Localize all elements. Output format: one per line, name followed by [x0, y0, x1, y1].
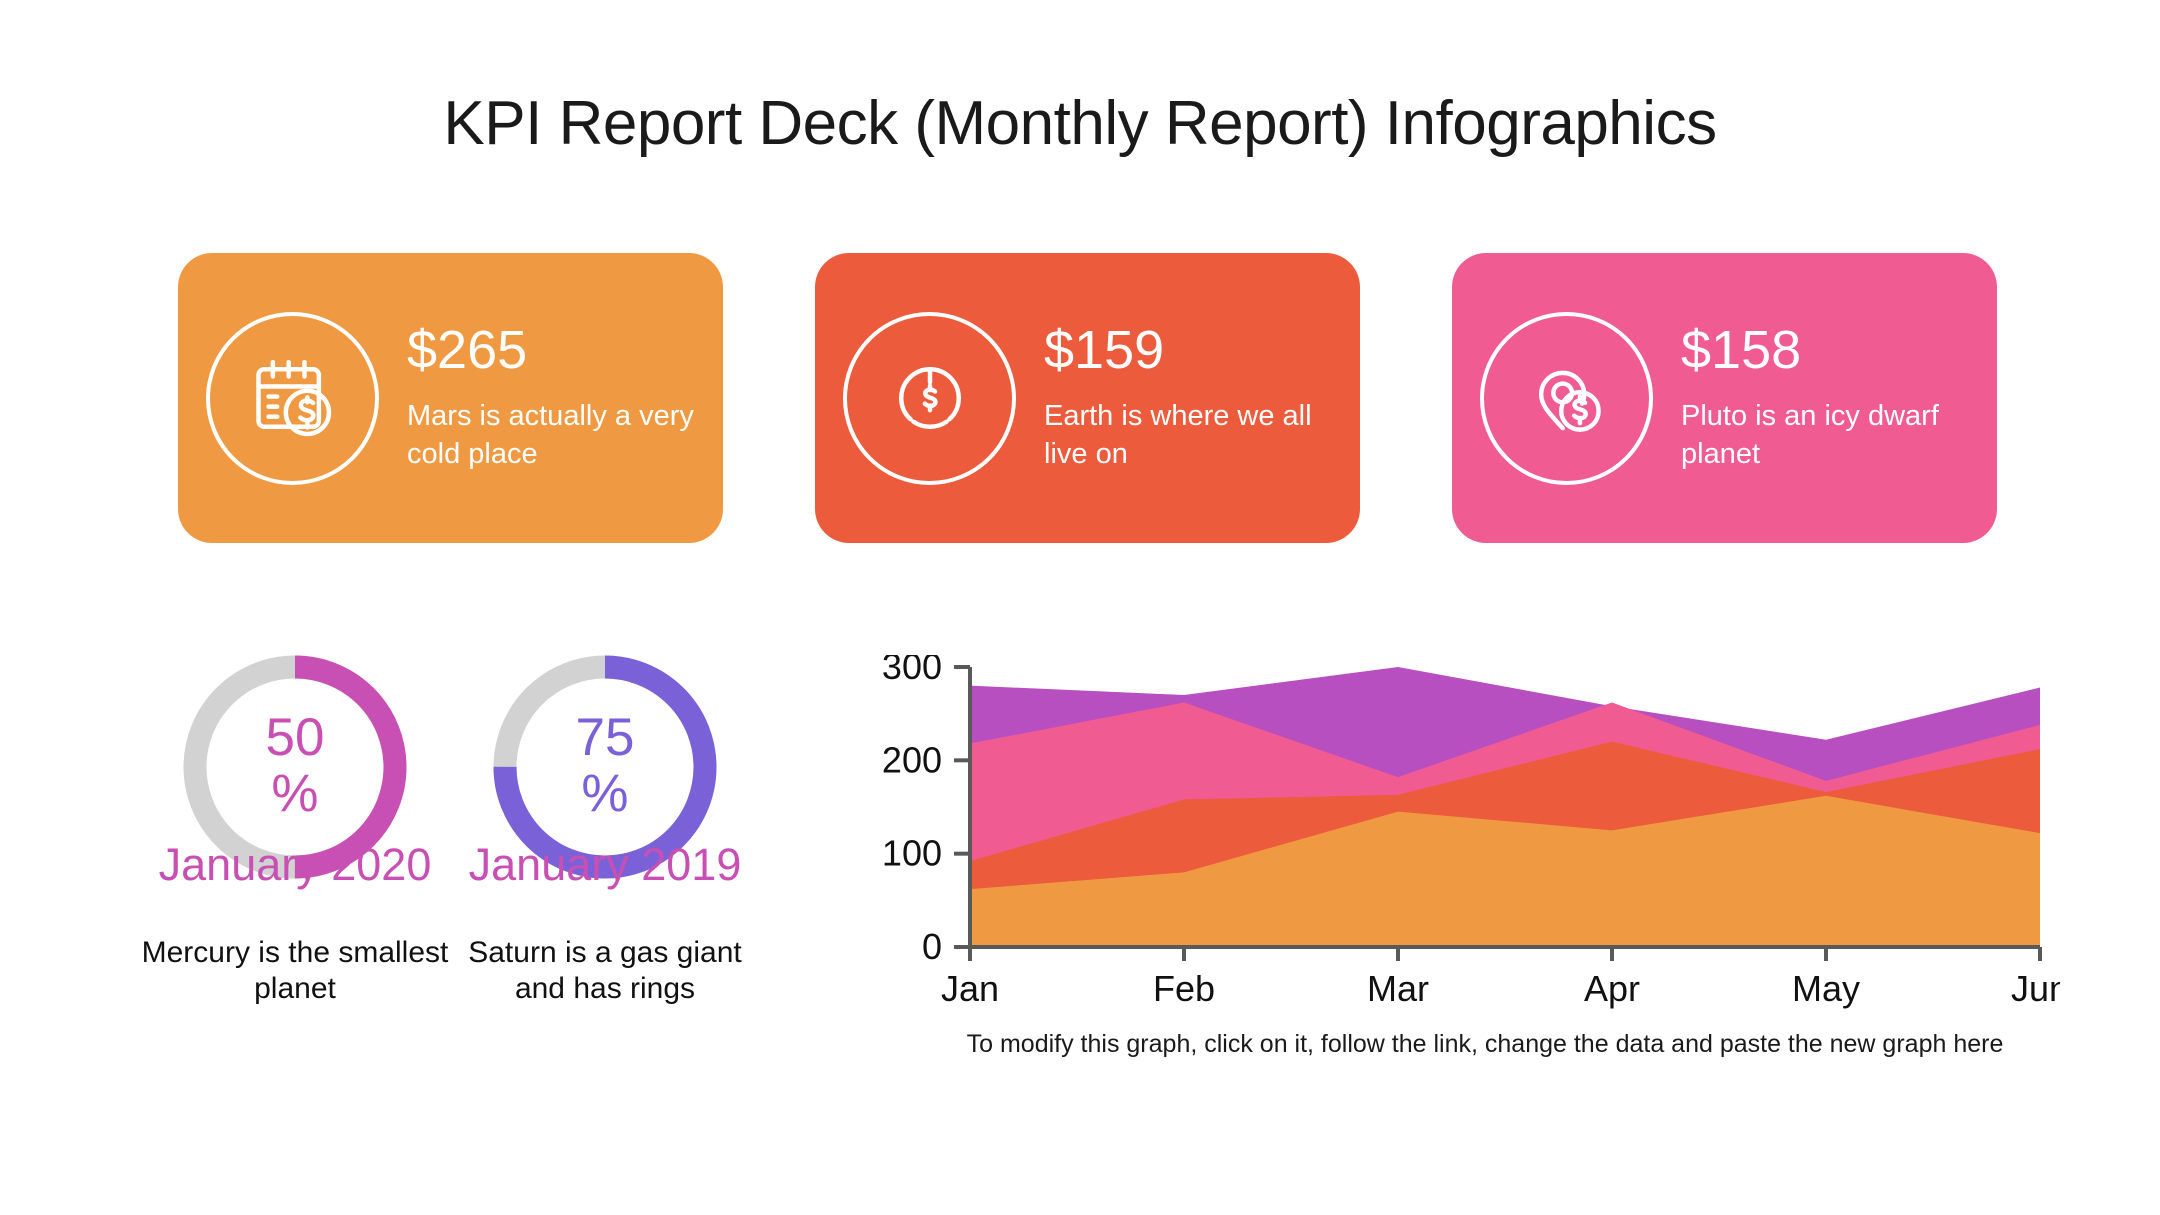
kpi-card-pluto[interactable]: $158 Pluto is an icy dwarf planet — [1452, 253, 1997, 543]
y-tick-label: 200 — [882, 739, 942, 780]
donut-month-label: January 2020 — [150, 841, 440, 888]
y-tick-label: 300 — [882, 655, 942, 687]
donut-note: Saturn is a gas giant and has rings — [448, 935, 762, 1007]
x-tick-label: Jan — [941, 968, 999, 1009]
x-tick-label: Apr — [1584, 968, 1640, 1009]
donut-gauge-january-2019[interactable]: 75 % January 2019 Saturn is a gas giant … — [460, 645, 750, 890]
kpi-description: Mars is actually a very cold place — [407, 397, 697, 474]
donut-note: Mercury is the smallest planet — [138, 935, 452, 1007]
kpi-description: Earth is where we all live on — [1044, 397, 1334, 474]
calendar-dollar-icon — [206, 312, 379, 485]
donut-gauge-january-2020[interactable]: 50 % January 2020 Mercury is the smalles… — [150, 645, 440, 890]
chart-caption: To modify this graph, click on it, follo… — [955, 1030, 2015, 1059]
kpi-text: $159 Earth is where we all live on — [1044, 322, 1334, 473]
donut-gauge-group: 50 % January 2020 Mercury is the smalles… — [150, 645, 750, 1115]
kpi-card-earth[interactable]: $159 Earth is where we all live on — [815, 253, 1360, 543]
chart-canvas: 0100200300JanFebMarAprMayJun — [830, 655, 2060, 1025]
stacked-area-chart[interactable]: 0100200300JanFebMarAprMayJun To modify t… — [830, 655, 2060, 1095]
kpi-text: $158 Pluto is an icy dwarf planet — [1681, 322, 1971, 473]
y-tick-label: 100 — [882, 833, 942, 874]
x-tick-label: Feb — [1153, 968, 1215, 1009]
pie-chart-dollar-icon — [843, 312, 1016, 485]
donut-month-label: January 2019 — [460, 841, 750, 888]
x-tick-label: Mar — [1367, 968, 1429, 1009]
location-pin-dollar-icon — [1480, 312, 1653, 485]
kpi-card-mars[interactable]: $265 Mars is actually a very cold place — [178, 253, 723, 543]
kpi-value: $158 — [1681, 322, 1971, 379]
x-tick-label: May — [1792, 968, 1860, 1009]
kpi-description: Pluto is an icy dwarf planet — [1681, 397, 1971, 474]
page-title: KPI Report Deck (Monthly Report) Infogra… — [0, 88, 2160, 159]
kpi-value: $265 — [407, 322, 697, 379]
y-tick-label: 0 — [922, 926, 942, 967]
kpi-card-row: $265 Mars is actually a very cold place … — [178, 253, 1998, 543]
x-tick-label: Jun — [2011, 968, 2060, 1009]
kpi-text: $265 Mars is actually a very cold place — [407, 322, 697, 473]
kpi-value: $159 — [1044, 322, 1334, 379]
